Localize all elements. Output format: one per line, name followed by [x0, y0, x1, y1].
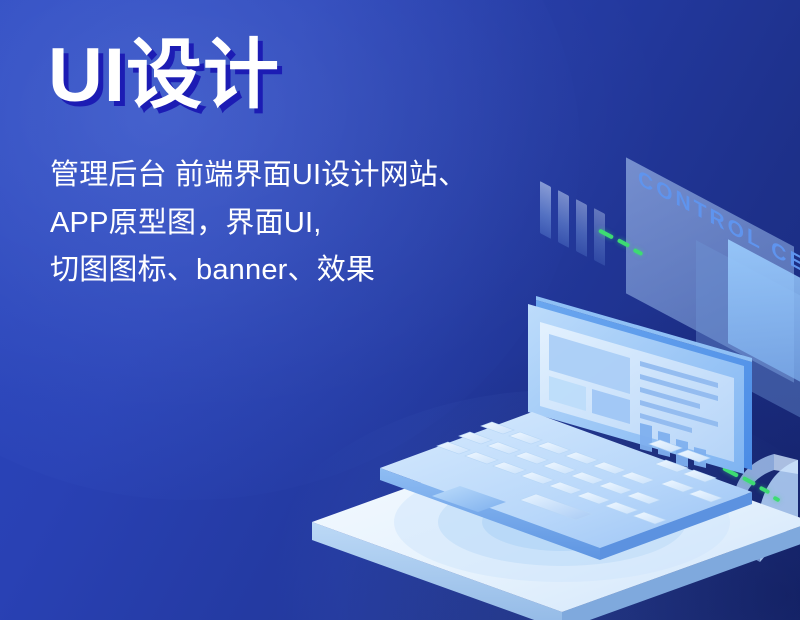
slab-2: [558, 190, 569, 248]
subtitle-line-2: APP原型图，界面UI,: [50, 200, 467, 248]
ui-design-banner: CONTROL CENTER UI设计 管理后台 前端界面UI设计网站、 APP…: [0, 0, 800, 620]
subtitle-line-3: 切图图标、banner、效果: [50, 247, 467, 295]
slab-1: [540, 181, 551, 239]
slab-4: [594, 208, 605, 266]
laptop-illustration: [300, 290, 800, 620]
subtitle-line-1: 管理后台 前端界面UI设计网站、: [50, 152, 467, 200]
subtitle: 管理后台 前端界面UI设计网站、 APP原型图，界面UI, 切图图标、banne…: [50, 152, 467, 295]
text-block: UI设计 管理后台 前端界面UI设计网站、 APP原型图，界面UI, 切图图标、…: [48, 38, 467, 295]
page-title: UI设计: [48, 38, 467, 114]
slab-3: [576, 199, 587, 257]
